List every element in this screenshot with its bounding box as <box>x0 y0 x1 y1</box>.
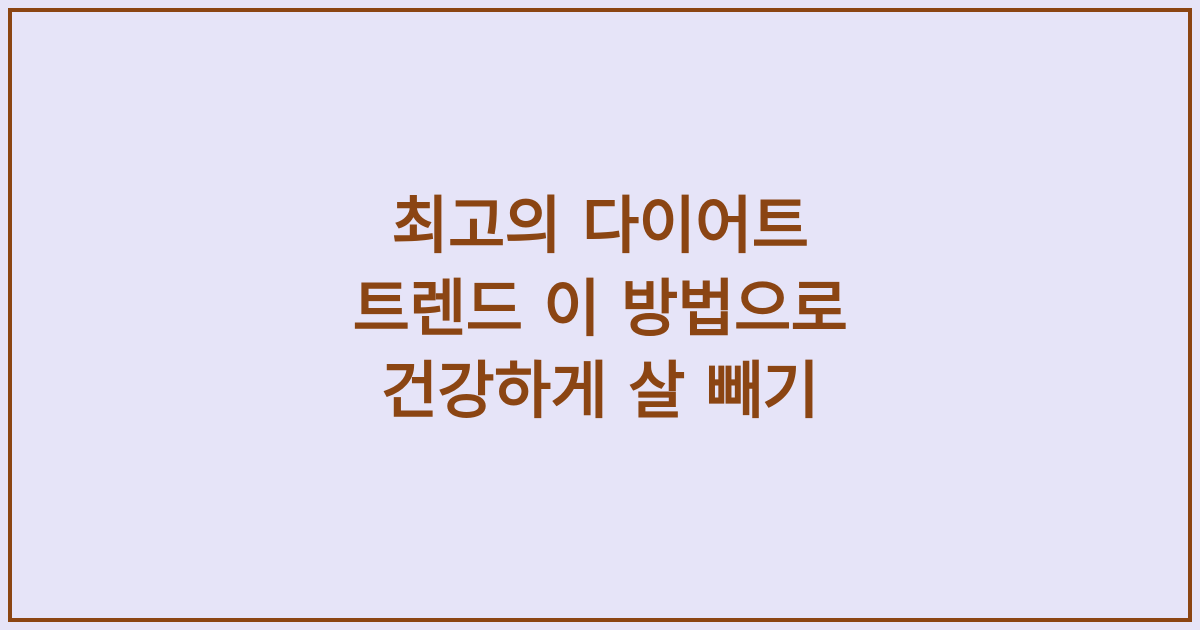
decorative-border-frame: 최고의 다이어트 트렌드 이 방법으로 건강하게 살 빼기 <box>8 8 1192 622</box>
thumbnail-canvas: 최고의 다이어트 트렌드 이 방법으로 건강하게 살 빼기 <box>0 0 1200 630</box>
headline-line-1: 최고의 다이어트 <box>353 185 848 267</box>
headline-line-2: 트렌드 이 방법으로 <box>353 268 848 350</box>
headline-line-3: 건강하게 살 빼기 <box>353 350 848 432</box>
page-title: 최고의 다이어트 트렌드 이 방법으로 건강하게 살 빼기 <box>353 185 848 432</box>
headline-container: 최고의 다이어트 트렌드 이 방법으로 건강하게 살 빼기 <box>12 12 1188 618</box>
